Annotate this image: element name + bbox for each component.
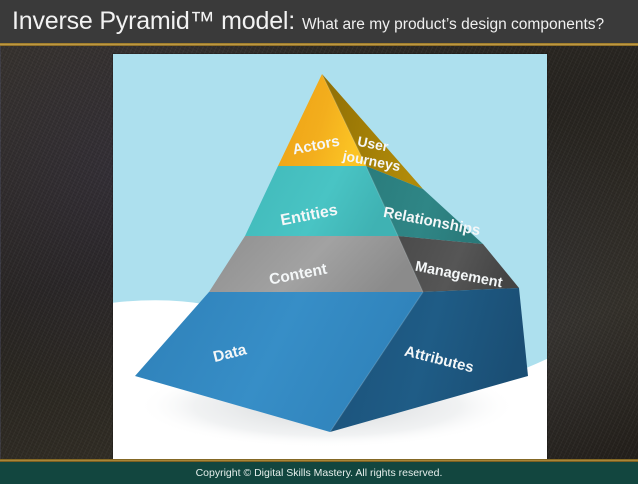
header-title-group: Inverse Pyramid™ model: What are my prod… [12,0,604,43]
page-title: Inverse Pyramid™ model: [12,0,295,43]
diagram-panel: Actors Entities Content Data User journe… [113,54,547,462]
copyright-text: Copyright © Digital Skills Mastery. All … [0,462,638,484]
page-subtitle: What are my product’s design components? [302,3,604,43]
slide-header: Inverse Pyramid™ model: What are my prod… [0,0,638,43]
pyramid-diagram: Actors Entities Content Data User journe… [113,54,547,462]
slide-footer: Copyright © Digital Skills Mastery. All … [0,462,638,484]
